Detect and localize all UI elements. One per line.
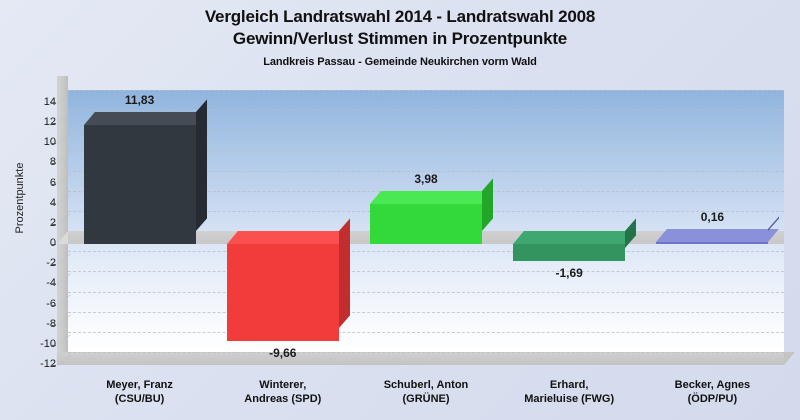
y-tick-label: -2 — [22, 257, 56, 269]
x-category-line: Schuberl, Anton — [351, 378, 501, 392]
y-tick-mark — [51, 244, 56, 245]
x-category-line: (CSU/BU) — [65, 392, 215, 406]
bar[interactable] — [656, 242, 768, 244]
y-tick-label: 2 — [22, 217, 56, 229]
chart-title-block: Vergleich Landratswahl 2014 - Landratswa… — [0, 6, 800, 71]
bar[interactable] — [227, 244, 339, 341]
y-tick-mark — [51, 163, 56, 164]
bar-value-label: -1,69 — [499, 266, 639, 280]
gridline — [68, 332, 784, 333]
x-category-line: Meyer, Franz — [65, 378, 215, 392]
y-tick-label: 4 — [22, 197, 56, 209]
y-tick-label: -10 — [22, 338, 56, 350]
x-category-label: Meyer, Franz(CSU/BU) — [65, 378, 215, 406]
y-tick-mark — [51, 103, 56, 104]
y-tick-label: -4 — [22, 277, 56, 289]
bar-side-face — [339, 218, 350, 328]
y-tick-label: 10 — [22, 136, 56, 148]
y-tick-mark — [51, 184, 56, 185]
bar-front-face — [370, 204, 482, 244]
bar-front-face — [513, 244, 625, 261]
y-tick-label: 0 — [22, 237, 56, 249]
chart-container: Vergleich Landratswahl 2014 - Landratswa… — [0, 0, 800, 420]
y-tick-label: -12 — [22, 358, 56, 370]
y-tick-mark — [51, 204, 56, 205]
y-tick-mark — [51, 284, 56, 285]
bar[interactable] — [84, 125, 196, 244]
bar-side-face — [196, 99, 207, 231]
chart-subtitle: Landkreis Passau - Gemeinde Neukirchen v… — [0, 53, 800, 71]
x-category-line: (ÖDP/PU) — [637, 392, 787, 406]
bar-top-face — [513, 231, 636, 244]
y-tick-mark — [51, 264, 56, 265]
y-tick-mark — [51, 305, 56, 306]
x-category-line: (GRÜNE) — [351, 392, 501, 406]
x-category-line: Erhard, — [494, 378, 644, 392]
y-tick-mark — [51, 325, 56, 326]
plot-floor-cap — [784, 352, 795, 365]
plot-area-wrapper: 14121086420-2-4-6-8-10-12 11,83-9,663,98… — [57, 76, 795, 366]
bar-front-face — [656, 242, 768, 244]
gridline — [68, 312, 784, 313]
gridline — [68, 90, 784, 91]
gridline — [68, 271, 784, 272]
gridline — [68, 110, 784, 111]
bar-top-face — [656, 229, 779, 242]
bar-top-face — [370, 191, 493, 204]
x-category-label: Winterer,Andreas (SPD) — [208, 378, 358, 406]
plot-floor — [57, 352, 784, 365]
x-category-line: Marieluise (FWG) — [494, 392, 644, 406]
x-category-line: Andreas (SPD) — [208, 392, 358, 406]
x-category-line: Winterer, — [208, 378, 358, 392]
x-category-label: Schuberl, Anton(GRÜNE) — [351, 378, 501, 406]
bar-value-label: 0,16 — [642, 210, 782, 224]
y-tick-mark — [51, 123, 56, 124]
bar-value-label: -9,66 — [213, 346, 353, 360]
gridline — [68, 292, 784, 293]
y-tick-label: 14 — [22, 96, 56, 108]
bar-value-label: 11,83 — [70, 93, 210, 107]
y-tick-label: 8 — [22, 156, 56, 168]
zero-plane-cap — [57, 231, 68, 244]
bar-top-face — [227, 231, 350, 244]
gridline — [68, 352, 784, 353]
y-tick-label: -6 — [22, 298, 56, 310]
y-tick-mark — [51, 345, 56, 346]
x-category-label: Becker, Agnes(ÖDP/PU) — [637, 378, 787, 406]
y-tick-mark — [51, 143, 56, 144]
chart-title-line-1: Vergleich Landratswahl 2014 - Landratswa… — [0, 6, 800, 28]
bar-value-label: 3,98 — [356, 172, 496, 186]
gridline — [68, 251, 784, 252]
bar[interactable] — [370, 204, 482, 244]
y-tick-label: 6 — [22, 177, 56, 189]
bar[interactable] — [513, 244, 625, 261]
chart-title-line-2: Gewinn/Verlust Stimmen in Prozentpunkte — [0, 28, 800, 50]
y-tick-mark — [51, 224, 56, 225]
y-tick-label: -8 — [22, 318, 56, 330]
bar-top-face — [84, 112, 207, 125]
y-tick-mark — [51, 365, 56, 366]
bar-front-face — [227, 244, 339, 341]
bar-front-face — [84, 125, 196, 244]
x-category-label: Erhard,Marieluise (FWG) — [494, 378, 644, 406]
x-category-line: Becker, Agnes — [637, 378, 787, 392]
y-tick-label: 12 — [22, 116, 56, 128]
